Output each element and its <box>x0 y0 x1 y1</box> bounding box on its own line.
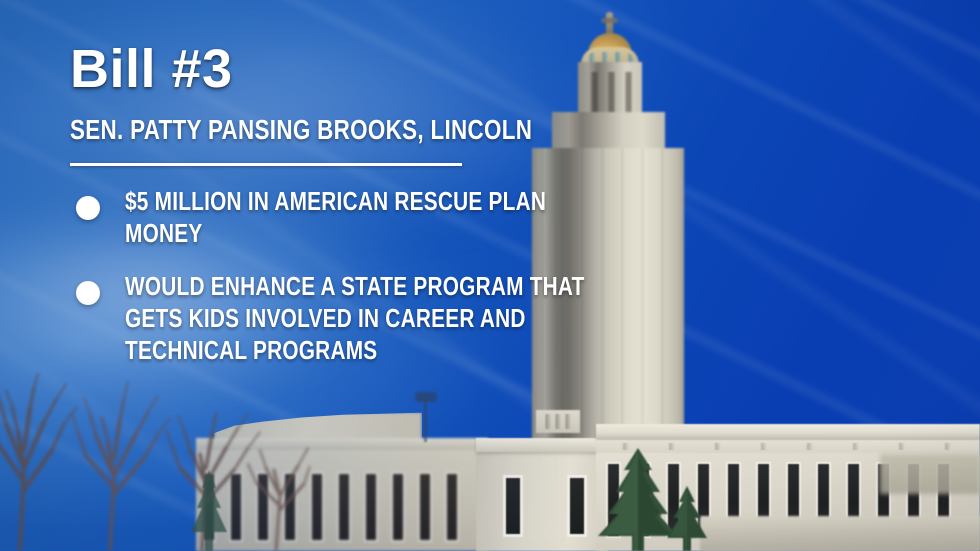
bullet-dot-icon <box>76 196 100 220</box>
sponsor-subtitle: SEN. PATTY PANSING BROOKS, LINCOLN <box>70 115 532 144</box>
graphic-stage: Bill #3 SEN. PATTY PANSING BROOKS, LINCO… <box>0 0 980 551</box>
bullet-list: $5 MILLION IN AMERICAN RESCUE PLAN MONEY… <box>70 186 590 389</box>
title-divider <box>70 163 462 166</box>
list-item: WOULD ENHANCE A STATE PROGRAM THAT GETS … <box>70 271 590 366</box>
bill-title: Bill #3 <box>70 42 233 96</box>
bullet-text: WOULD ENHANCE A STATE PROGRAM THAT GETS … <box>125 271 590 366</box>
list-item: $5 MILLION IN AMERICAN RESCUE PLAN MONEY <box>70 186 590 249</box>
bullet-dot-icon <box>76 281 100 305</box>
bullet-text: $5 MILLION IN AMERICAN RESCUE PLAN MONEY <box>125 186 590 249</box>
text-overlay: Bill #3 SEN. PATTY PANSING BROOKS, LINCO… <box>0 0 980 551</box>
